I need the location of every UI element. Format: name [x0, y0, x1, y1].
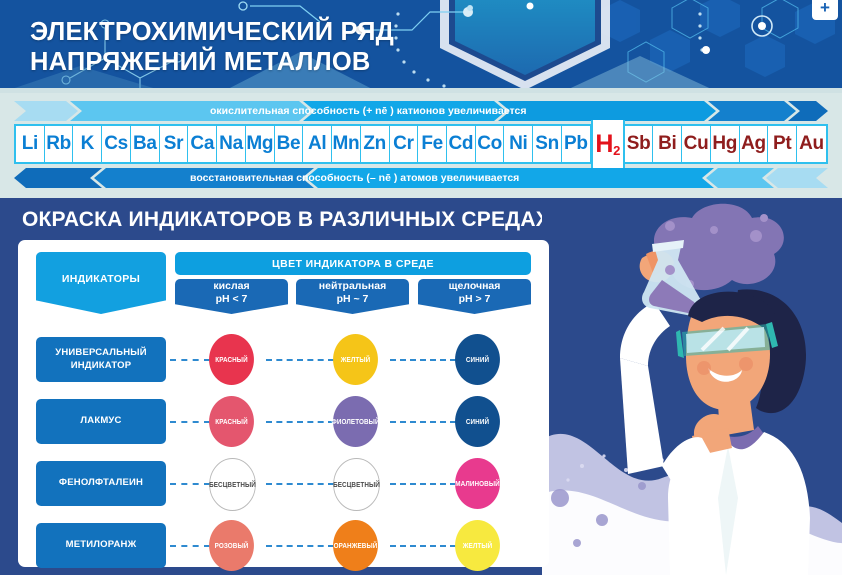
- indicator-color-circle: СИНИЙ: [455, 396, 500, 447]
- indicators-table-panel: ИНДИКАТОРЫ ЦВЕТ ИНДИКАТОРА В СРЕДЕ кисла…: [18, 240, 549, 567]
- element-cell-cs: Cs: [102, 126, 131, 162]
- element-cell-cd: Cd: [447, 126, 476, 162]
- element-series-row: LiRbKCsBaSrCaNaMgBeAlMnZnCrFeCdCoNiSnPbH…: [14, 124, 828, 164]
- element-symbol: Mg: [246, 133, 273, 155]
- element-symbol: Na: [219, 133, 243, 155]
- element-cell-ag: Ag: [740, 126, 769, 162]
- indicator-color-circle: БЕСЦВЕТНЫЙ: [209, 458, 256, 511]
- element-cell-k: K: [73, 126, 102, 162]
- element-cell-sn: Sn: [533, 126, 562, 162]
- table-column-header-neutral: нейтральная pH ~ 7: [296, 279, 409, 314]
- connector-line: [170, 483, 210, 485]
- indicator-color-label: КРАСНЫЙ: [215, 418, 247, 425]
- indicator-name-cell: УНИВЕРСАЛЬНЫЙ ИНДИКАТОР: [36, 337, 166, 382]
- element-cell-sr: Sr: [160, 126, 189, 162]
- element-symbol: Cr: [393, 133, 414, 155]
- element-cell-mg: Mg: [246, 126, 275, 162]
- reducing-ability-arrow: восстановительная способность (– nē ) ат…: [14, 168, 828, 188]
- element-symbol: Al: [308, 133, 326, 155]
- connector-line: [390, 545, 456, 547]
- element-cell-zn: Zn: [361, 126, 390, 162]
- connector-line: [266, 483, 334, 485]
- indicators-section: ОКРАСКА ИНДИКАТОРОВ В РАЗЛИЧНЫХ СРЕДАХ: [0, 198, 842, 575]
- poster-header: ЭЛЕКТРОХИМИЧЕСКИЙ РЯД НАПРЯЖЕНИЙ МЕТАЛЛО…: [0, 0, 842, 93]
- table-corner-header: ИНДИКАТОРЫ: [36, 252, 166, 314]
- indicator-color-circle: ЖЕЛТЫЙ: [333, 334, 378, 385]
- reducing-ability-text: восстановительная способность (– nē ) ат…: [190, 168, 519, 188]
- element-cell-mn: Mn: [332, 126, 361, 162]
- indicator-color-label: БЕСЦВЕТНЫЙ: [209, 481, 256, 488]
- indicator-color-circle: КРАСНЫЙ: [209, 334, 254, 385]
- element-cell-ca: Ca: [188, 126, 217, 162]
- indicator-color-circle: МАЛИНОВЫЙ: [455, 458, 500, 509]
- indicator-color-circle: БЕСЦВЕТНЫЙ: [333, 458, 380, 511]
- column-ph-alkaline: pH > 7: [459, 293, 491, 306]
- element-symbol: Fe: [421, 133, 443, 155]
- table-group-header: ЦВЕТ ИНДИКАТОРА В СРЕДЕ: [175, 252, 531, 275]
- element-symbol: Pb: [564, 133, 588, 155]
- element-symbol: Co: [477, 133, 502, 155]
- indicator-color-label: СИНИЙ: [466, 356, 489, 363]
- page-title-line1: ЭЛЕКТРОХИМИЧЕСКИЙ РЯД: [30, 17, 460, 47]
- indicator-color-circle: РОЗОВЫЙ: [209, 520, 254, 571]
- element-symbol: Ag: [741, 133, 766, 155]
- element-symbol: Cd: [449, 133, 474, 155]
- element-symbol: H2: [595, 130, 620, 159]
- connector-line: [390, 483, 456, 485]
- connector-line: [390, 421, 456, 423]
- element-symbol: Hg: [712, 133, 737, 155]
- element-cell-li: Li: [16, 126, 45, 162]
- element-cell-hg: Hg: [711, 126, 740, 162]
- indicator-color-circle: ФИОЛЕТОВЫЙ: [333, 396, 378, 447]
- element-cell-na: Na: [217, 126, 246, 162]
- indicator-name-cell: МЕТИЛОРАНЖ: [36, 523, 166, 568]
- element-cell-be: Be: [275, 126, 304, 162]
- scientist-with-flask-illustration: [542, 198, 842, 575]
- indicator-color-label: ЖЕЛТЫЙ: [341, 356, 371, 363]
- indicator-color-label: КРАСНЫЙ: [215, 356, 247, 363]
- element-cell-ba: Ba: [131, 126, 160, 162]
- element-cell-cr: Cr: [390, 126, 419, 162]
- connector-line: [266, 359, 334, 361]
- element-symbol: Cs: [104, 133, 128, 155]
- indicator-color-label: РОЗОВЫЙ: [215, 542, 249, 549]
- element-symbol: Bi: [658, 133, 676, 155]
- element-cell-fe: Fe: [418, 126, 447, 162]
- column-name-acidic: кислая: [213, 280, 249, 293]
- indicator-name-cell: ФЕНОЛФТАЛЕИН: [36, 461, 166, 506]
- metal-activity-series: окислительная способность (+ nē ) катион…: [0, 93, 842, 198]
- element-symbol: Ca: [190, 133, 214, 155]
- indicator-color-label: СИНИЙ: [466, 418, 489, 425]
- column-ph-neutral: pH ~ 7: [337, 293, 369, 306]
- indicator-color-label: ЖЕЛТЫЙ: [463, 542, 493, 549]
- oxidizing-ability-arrow: окислительная способность (+ nē ) катион…: [14, 101, 828, 121]
- element-symbol: Mn: [333, 133, 360, 155]
- element-symbol: Rb: [46, 133, 71, 155]
- indicator-color-label: ОРАНЖЕВЫЙ: [334, 542, 378, 549]
- element-cell-co: Co: [476, 126, 505, 162]
- element-cell-sb: Sb: [625, 126, 654, 162]
- element-cell-rb: Rb: [45, 126, 74, 162]
- table-column-header-acidic: кислая pH < 7: [175, 279, 288, 314]
- indicator-name-cell: ЛАКМУС: [36, 399, 166, 444]
- element-symbol: Ni: [509, 133, 527, 155]
- element-symbol: Cu: [684, 133, 709, 155]
- element-symbol: K: [81, 133, 94, 155]
- element-cell-pb: Pb: [562, 126, 591, 162]
- page-title: ЭЛЕКТРОХИМИЧЕСКИЙ РЯД НАПРЯЖЕНИЙ МЕТАЛЛО…: [30, 17, 460, 77]
- connector-line: [266, 421, 334, 423]
- connector-line: [170, 421, 210, 423]
- element-subscript: 2: [613, 143, 620, 158]
- element-cell-cu: Cu: [682, 126, 711, 162]
- connector-line: [170, 545, 210, 547]
- element-symbol: Li: [22, 133, 38, 155]
- connector-line: [266, 545, 334, 547]
- column-name-alkaline: щелочная: [449, 280, 501, 293]
- indicator-color-label: ФИОЛЕТОВЫЙ: [331, 418, 379, 425]
- indicators-section-title: ОКРАСКА ИНДИКАТОРОВ В РАЗЛИЧНЫХ СРЕДАХ: [22, 208, 550, 232]
- connector-line: [170, 359, 210, 361]
- plus-icon-glyph: +: [820, 0, 830, 16]
- column-ph-acidic: pH < 7: [216, 293, 248, 306]
- indicator-color-circle: СИНИЙ: [455, 334, 500, 385]
- element-symbol: Sr: [164, 133, 183, 155]
- indicator-color-label: МАЛИНОВЫЙ: [455, 480, 499, 487]
- element-cell-h2: H2: [591, 120, 625, 168]
- element-symbol: Au: [799, 133, 824, 155]
- table-row: ФЕНОЛФТАЛЕИНБЕСЦВЕТНЫЙБЕСЦВЕТНЫЙМАЛИНОВЫ…: [18, 454, 549, 516]
- element-symbol: Pt: [773, 133, 791, 155]
- indicator-color-circle: КРАСНЫЙ: [209, 396, 254, 447]
- element-cell-bi: Bi: [653, 126, 682, 162]
- chemistry-poster: ЭЛЕКТРОХИМИЧЕСКИЙ РЯД НАПРЯЖЕНИЙ МЕТАЛЛО…: [0, 0, 842, 575]
- indicator-color-circle: ОРАНЖЕВЫЙ: [333, 520, 378, 571]
- indicator-color-circle: ЖЕЛТЫЙ: [455, 520, 500, 571]
- element-cell-pt: Pt: [768, 126, 797, 162]
- plus-icon[interactable]: +: [812, 0, 838, 20]
- table-row: УНИВЕРСАЛЬНЫЙ ИНДИКАТОРКРАСНЫЙЖЕЛТЫЙСИНИ…: [18, 330, 549, 392]
- element-symbol: Be: [277, 133, 301, 155]
- element-symbol: Zn: [363, 133, 386, 155]
- element-symbol: Sn: [535, 133, 559, 155]
- table-row: МЕТИЛОРАНЖРОЗОВЫЙОРАНЖЕВЫЙЖЕЛТЫЙ: [18, 516, 549, 575]
- table-column-header-alkaline: щелочная pH > 7: [418, 279, 531, 314]
- element-cell-au: Au: [797, 126, 826, 162]
- indicator-color-label: БЕСЦВЕТНЫЙ: [333, 481, 380, 488]
- element-cell-ni: Ni: [504, 126, 533, 162]
- element-cell-al: Al: [303, 126, 332, 162]
- element-symbol: Ba: [133, 133, 157, 155]
- table-row: ЛАКМУСКРАСНЫЙФИОЛЕТОВЫЙСИНИЙ: [18, 392, 549, 454]
- column-name-neutral: нейтральная: [319, 280, 386, 293]
- oxidizing-ability-text: окислительная способность (+ nē ) катион…: [210, 101, 526, 121]
- element-symbol: Sb: [627, 133, 651, 155]
- connector-line: [390, 359, 456, 361]
- page-title-line2: НАПРЯЖЕНИЙ МЕТАЛЛОВ: [30, 47, 460, 77]
